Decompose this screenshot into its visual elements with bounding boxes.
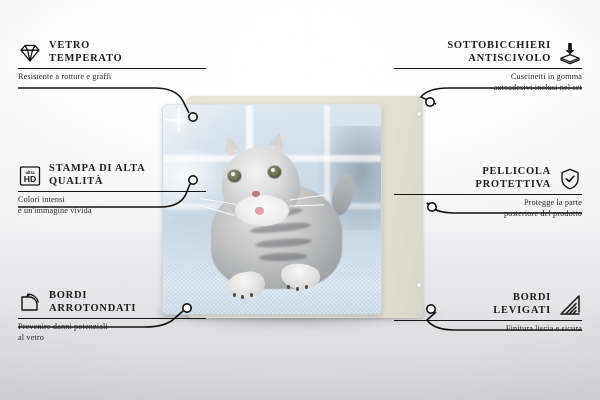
cat-nose [252,191,260,197]
feature-header: SOTTOBICCHIERI ANTISCIVOLO [394,40,582,65]
feature-callout-stampa-alta-qualita[interactable]: ultra HD STAMPA DI ALTA QUALITÀ Colori i… [18,163,206,216]
divider [18,318,206,319]
feature-header: PELLICOLA PROTETTIVA [394,166,582,191]
cat-toe [233,293,236,297]
infographic-canvas: VETRO TEMPERATO Resistente a rotture e g… [0,0,600,400]
rubber-pad [417,283,422,288]
hatched-triangle-icon [558,293,582,317]
cat-eye-glint [271,168,275,172]
feature-callout-bordi-arrotondati[interactable]: BORDI ARROTONDATI Prevenire danni potenz… [18,290,206,343]
feature-title: PELLICOLA PROTETTIVA [475,166,551,191]
feature-header: BORDI LEVIGATI [394,292,582,317]
feature-subtitle: Protegge la parte posteriore del prodott… [394,198,582,219]
feature-header: VETRO TEMPERATO [18,40,206,65]
cat-tongue [255,207,264,215]
feature-subtitle: Cuscinetti in gomma autoadesivi inclusi … [394,72,582,93]
divider [18,191,206,192]
feature-callout-sottobicchieri-antiscivolo[interactable]: SOTTOBICCHIERI ANTISCIVOLO Cuscinetti in… [394,40,582,93]
divider [394,320,582,321]
cat-toe [296,287,299,291]
feature-callout-pellicola-protettiva[interactable]: PELLICOLA PROTETTIVA Protegge la parte p… [394,166,582,219]
feature-subtitle: Prevenire danni potenziali al vetro [18,322,206,343]
ultra-hd-badge-icon: ultra HD [18,164,42,188]
divider [394,194,582,195]
feature-header: BORDI ARROTONDATI [18,290,206,315]
feature-subtitle: Finitura liscia e sicura [394,324,582,334]
shield-check-icon [558,167,582,191]
feature-subtitle: Colori intensi e un'immagine vivida [18,195,206,216]
feature-title: BORDI ARROTONDATI [49,290,136,315]
cat-toe [305,285,308,289]
diamond-icon [18,41,42,65]
feature-callout-vetro-temperato[interactable]: VETRO TEMPERATO Resistente a rotture e g… [18,40,206,83]
feature-title: SOTTOBICCHIERI ANTISCIVOLO [447,40,551,65]
rubber-pad [417,112,422,117]
rounded-corner-icon [18,291,42,315]
feature-title: VETRO TEMPERATO [49,40,122,65]
hd-label: HD [24,174,36,184]
feature-subtitle: Resistente a rotture e graffi [18,72,206,82]
pad-with-arrow-icon [558,41,582,65]
divider [18,68,206,69]
feature-callout-bordi-levigati[interactable]: BORDI LEVIGATI Finitura liscia e sicura [394,292,582,335]
feature-title: BORDI LEVIGATI [493,292,551,317]
divider [394,68,582,69]
feature-title: STAMPA DI ALTA QUALITÀ [49,163,145,188]
feature-header: ultra HD STAMPA DI ALTA QUALITÀ [18,163,206,188]
